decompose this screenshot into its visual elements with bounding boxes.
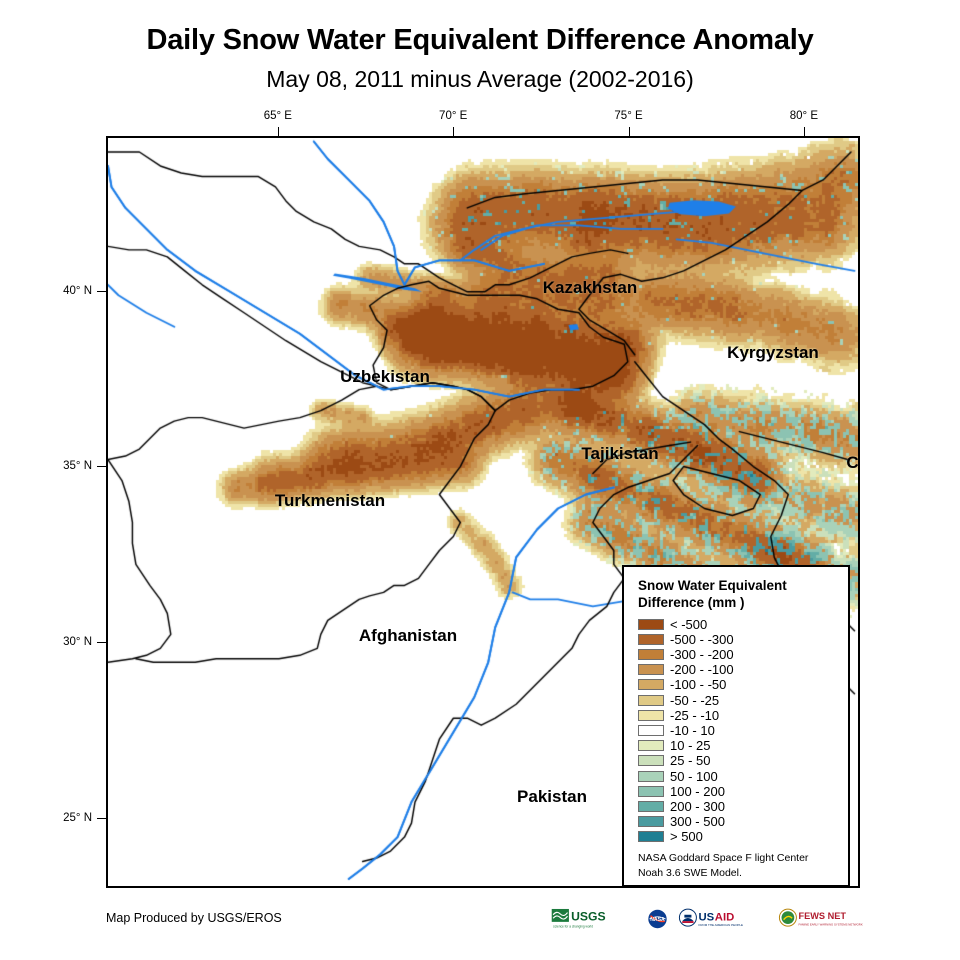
country-label-uzbekistan: Uzbekistan [340, 367, 430, 387]
legend-title: Snow Water Equivalent Difference (mm ) [638, 577, 838, 612]
legend-label: < -500 [670, 618, 707, 631]
lon-tick-label-75: 75° E [614, 110, 642, 122]
lat-tick-35 [97, 466, 106, 467]
lon-tick-80 [804, 127, 805, 136]
legend-swatch [638, 816, 664, 827]
usaid-logo: US AID FROM THE AMERICAN PEOPLE [678, 906, 770, 932]
legend-row: -500 - -300 [638, 632, 838, 647]
lat-tick-30 [97, 642, 106, 643]
title-block: Daily Snow Water Equivalent Difference A… [0, 24, 960, 93]
legend-swatch [638, 771, 664, 782]
legend-row: 100 - 200 [638, 784, 838, 799]
svg-text:US: US [699, 911, 715, 923]
legend-row: 50 - 100 [638, 768, 838, 783]
legend-swatch [638, 634, 664, 645]
page-title: Daily Snow Water Equivalent Difference A… [0, 24, 960, 57]
lon-tick-65 [278, 127, 279, 136]
legend-label: 25 - 50 [670, 754, 710, 767]
legend-label: -100 - -50 [670, 678, 726, 691]
lat-tick-label-30: 30° N [63, 636, 92, 648]
usgs-logo: USGS science for a changing world [551, 906, 637, 932]
lon-tick-75 [629, 127, 630, 136]
legend-box: Snow Water Equivalent Difference (mm ) <… [622, 565, 850, 887]
legend-label: 300 - 500 [670, 815, 725, 828]
lat-tick-label-35: 35° N [63, 460, 92, 472]
country-label-afghanistan: Afghanistan [359, 626, 457, 646]
map-frame[interactable]: KazakhstanUzbekistanKyrgyzstanTajikistan… [106, 136, 860, 888]
legend-row: -100 - -50 [638, 677, 838, 692]
lat-tick-label-25: 25° N [63, 812, 92, 824]
svg-text:FROM THE AMERICAN PEOPLE: FROM THE AMERICAN PEOPLE [699, 923, 744, 927]
country-label-turkmenistan: Turkmenistan [275, 491, 385, 511]
legend-swatch [638, 831, 664, 842]
legend-class-list: < -500-500 - -300-300 - -200-200 - -100-… [638, 617, 838, 845]
legend-swatch [638, 619, 664, 630]
legend-label: 10 - 25 [670, 739, 710, 752]
svg-text:USGS: USGS [571, 909, 606, 923]
legend-row: < -500 [638, 617, 838, 632]
legend-label: -300 - -200 [670, 648, 734, 661]
legend-row: -300 - -200 [638, 647, 838, 662]
legend-row: -25 - -10 [638, 708, 838, 723]
legend-label: -50 - -25 [670, 694, 719, 707]
legend-swatch [638, 679, 664, 690]
legend-row: -50 - -25 [638, 692, 838, 707]
legend-label: -25 - -10 [670, 709, 719, 722]
svg-text:FAMINE EARLY WARNING SYSTEMS N: FAMINE EARLY WARNING SYSTEMS NETWORK [799, 922, 863, 926]
lon-tick-label-65: 65° E [264, 110, 292, 122]
lat-tick-40 [97, 291, 106, 292]
legend-label: -10 - 10 [670, 724, 715, 737]
legend-row: -200 - -100 [638, 662, 838, 677]
legend-label: -500 - -300 [670, 633, 734, 646]
lon-tick-70 [453, 127, 454, 136]
legend-swatch [638, 664, 664, 675]
legend-row: 300 - 500 [638, 814, 838, 829]
lon-tick-label-80: 80° E [790, 110, 818, 122]
legend-swatch [638, 695, 664, 706]
legend-swatch [638, 801, 664, 812]
country-label-pakistan: Pakistan [517, 787, 587, 807]
legend-label: 200 - 300 [670, 800, 725, 813]
legend-row: > 500 [638, 829, 838, 844]
map-credit: Map Produced by USGS/EROS [106, 911, 282, 925]
legend-swatch [638, 649, 664, 660]
lat-tick-label-40: 40° N [63, 285, 92, 297]
svg-text:FEWS NET: FEWS NET [799, 911, 847, 921]
legend-swatch [638, 725, 664, 736]
nasa-logo: NASA [645, 906, 670, 932]
svg-text:NASA: NASA [650, 917, 665, 923]
lon-tick-label-70: 70° E [439, 110, 467, 122]
country-label-china: China [846, 453, 860, 473]
legend-label: > 500 [670, 830, 703, 843]
legend-swatch [638, 710, 664, 721]
country-label-kyrgyzstan: Kyrgyzstan [727, 343, 819, 363]
legend-label: -200 - -100 [670, 663, 734, 676]
legend-label: 50 - 100 [670, 770, 718, 783]
country-label-tajikistan: Tajikistan [581, 444, 658, 464]
legend-row: 10 - 25 [638, 738, 838, 753]
fewsnet-logo: FEWS NET FAMINE EARLY WARNING SYSTEMS NE… [778, 906, 870, 932]
legend-swatch [638, 755, 664, 766]
country-label-kazakhstan: Kazakhstan [543, 278, 637, 298]
lat-tick-25 [97, 818, 106, 819]
legend-source-note: NASA Goddard Space F light Center Noah 3… [638, 851, 838, 879]
legend-swatch [638, 786, 664, 797]
legend-row: -10 - 10 [638, 723, 838, 738]
legend-label: 100 - 200 [670, 785, 725, 798]
page-subtitle: May 08, 2011 minus Average (2002-2016) [0, 66, 960, 92]
logo-strip: USGS science for a changing world NASA U… [551, 906, 870, 932]
legend-row: 25 - 50 [638, 753, 838, 768]
legend-row: 200 - 300 [638, 799, 838, 814]
svg-text:AID: AID [715, 911, 734, 923]
svg-text:science for a changing world: science for a changing world [553, 925, 593, 929]
legend-swatch [638, 740, 664, 751]
